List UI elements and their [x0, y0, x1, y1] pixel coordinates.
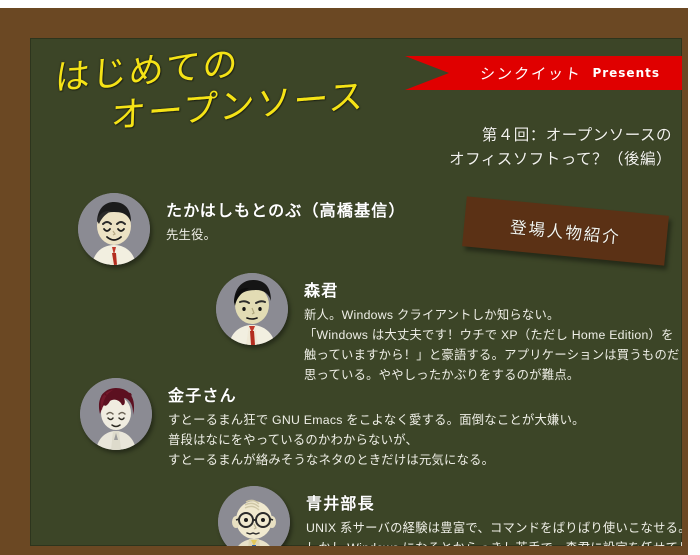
character-description-line: 「Windows は大丈夫です！ウチで XP（ただし Home Edition）… — [304, 326, 682, 346]
avatar-aoi — [218, 486, 290, 546]
character-name: 青井部長 — [306, 490, 682, 514]
character-text: 青井部長 UNIX 系サーバの経験は豊富で、コマンドをばりばり使いこなせる。 し… — [306, 486, 682, 546]
episode-subtitle-line-2: オフィスソフトって？（後編） — [449, 148, 672, 172]
character-name: 金子さん — [168, 382, 585, 406]
character-description-line: すとーるまんが絡みそうなネタのときだけは元気になる。 — [168, 451, 585, 471]
character-text: 森君 新人。Windows クライアントしか知らない。 「Windows は大丈… — [304, 273, 682, 386]
ribbon-brand-label: シンクイット — [479, 63, 583, 84]
character-description: 先生役。 — [166, 226, 406, 246]
character-description-line: UNIX 系サーバの経験は豊富で、コマンドをばりばり使いこなせる。 — [306, 519, 682, 539]
character-description-line: 普段はなにをやっているのかわからないが、 — [168, 431, 585, 451]
character-name: たかはしもとのぶ（高橋基信） — [166, 197, 406, 221]
avatar-kaneko — [80, 378, 152, 450]
chalkboard: はじめての オープンソース シンクイット Presents 第４回：オープンソー… — [30, 38, 682, 546]
character-description: すとーるまん狂で GNU Emacs をこよなく愛する。面倒なことが大嫌い。 普… — [168, 411, 585, 471]
page-title: はじめての オープンソース — [52, 44, 452, 134]
character-row: たかはしもとのぶ（高橋基信） 先生役。 — [78, 193, 406, 265]
ribbon-presents-label: Presents — [592, 66, 660, 80]
presents-ribbon: シンクイット Presents — [405, 56, 682, 90]
avatar-mori — [216, 273, 288, 345]
character-row: 金子さん すとーるまん狂で GNU Emacs をこよなく愛する。面倒なことが大… — [80, 378, 585, 471]
character-text: 金子さん すとーるまん狂で GNU Emacs をこよなく愛する。面倒なことが大… — [168, 378, 585, 471]
episode-subtitle-line-1: 第４回：オープンソースの — [449, 124, 672, 148]
avatar-takahashi — [78, 193, 150, 265]
character-row: 青井部長 UNIX 系サーバの経験は豊富で、コマンドをばりばり使いこなせる。 し… — [218, 486, 682, 546]
character-description: UNIX 系サーバの経験は豊富で、コマンドをばりばり使いこなせる。 しかし Wi… — [306, 519, 682, 546]
title-line-1: はじめての — [54, 38, 241, 101]
cast-introduction-label: 登場人物紹介 — [509, 214, 622, 249]
character-description-line: しかし Windows になるとからっきし苦手で、森君に設定を任せてしまう。 — [306, 539, 682, 546]
character-description-line: 触っていますから！」と豪語する。アプリケーションは買うものだと — [304, 346, 682, 366]
title-line-2: オープンソース — [110, 68, 367, 139]
character-description-line: すとーるまん狂で GNU Emacs をこよなく愛する。面倒なことが大嫌い。 — [168, 411, 585, 431]
character-row: 森君 新人。Windows クライアントしか知らない。 「Windows は大丈… — [216, 273, 682, 386]
cast-introduction-badge: 登場人物紹介 — [462, 196, 669, 265]
character-text: たかはしもとのぶ（高橋基信） 先生役。 — [166, 193, 406, 246]
character-description-line: 新人。Windows クライアントしか知らない。 — [304, 306, 682, 326]
character-name: 森君 — [304, 277, 682, 301]
character-description: 新人。Windows クライアントしか知らない。 「Windows は大丈夫です… — [304, 306, 682, 386]
wooden-frame: はじめての オープンソース シンクイット Presents 第４回：オープンソー… — [0, 8, 688, 555]
episode-subtitle: 第４回：オープンソースの オフィスソフトって？（後編） — [449, 124, 672, 171]
character-description-line: 先生役。 — [166, 226, 406, 246]
page-root: はじめての オープンソース シンクイット Presents 第４回：オープンソー… — [0, 0, 700, 555]
